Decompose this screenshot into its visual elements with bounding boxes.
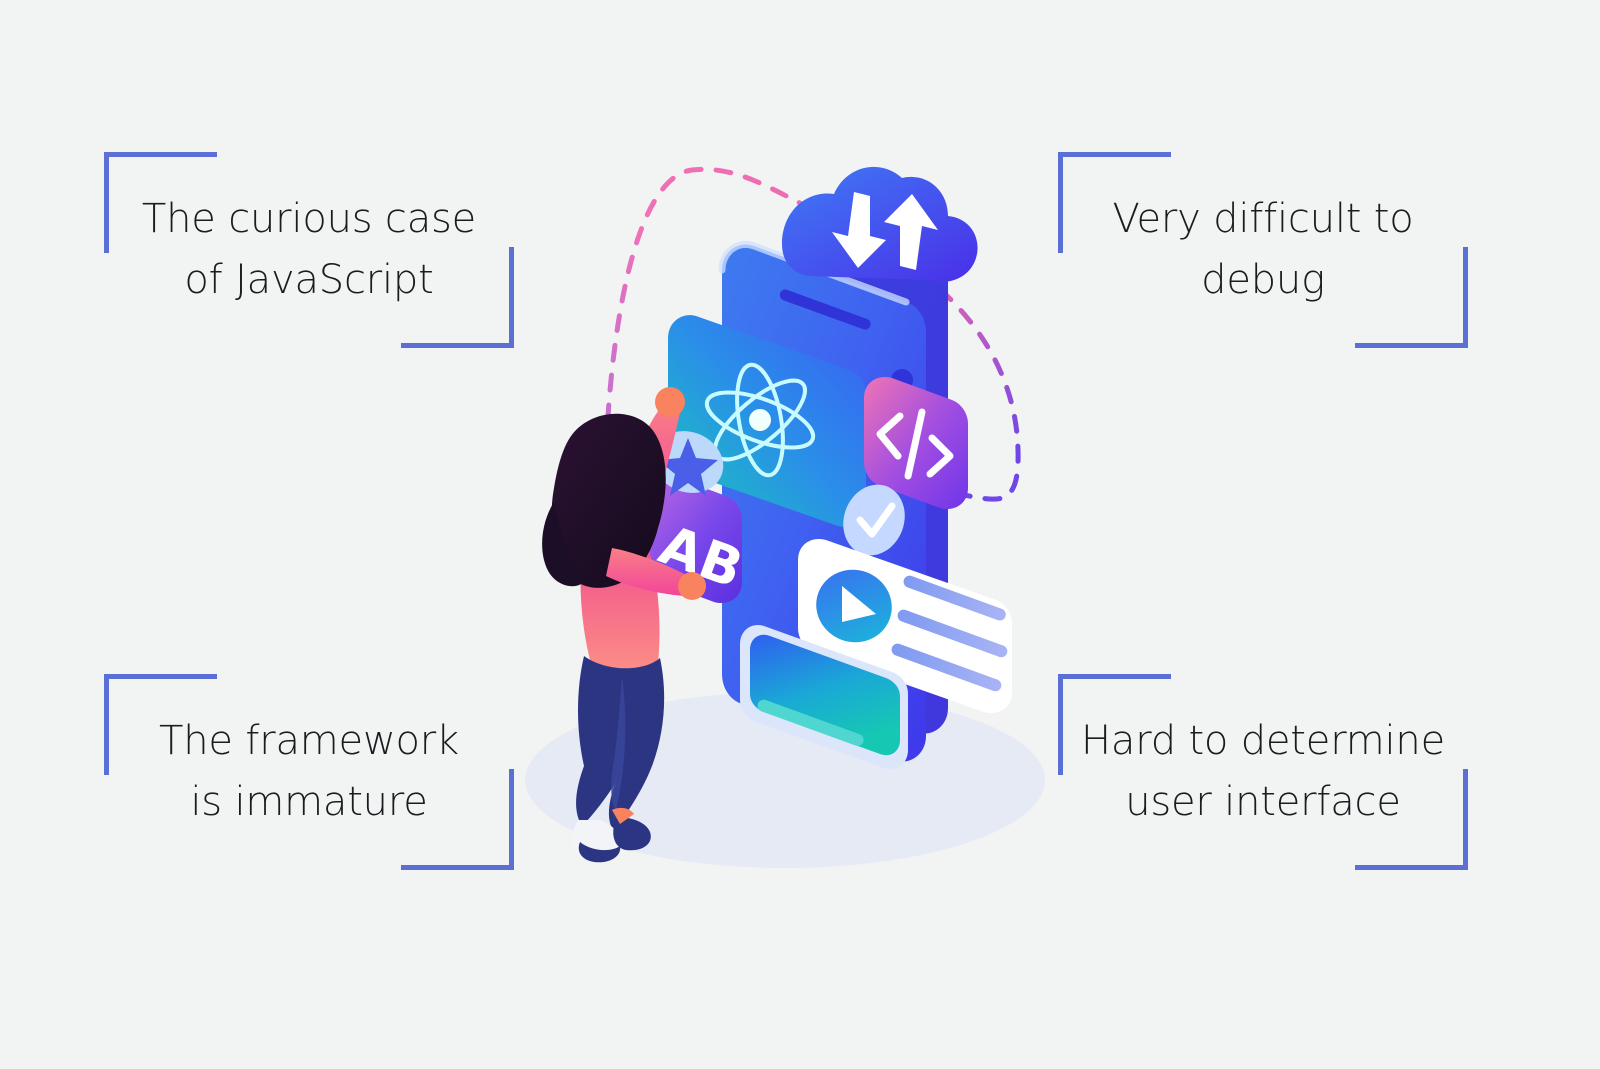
slide-canvas: AB [0, 0, 1600, 1069]
callout-label: The framework is immature [147, 711, 471, 833]
callout-label: Hard to determine user interface [1069, 711, 1457, 833]
callout-label: The curious case of JavaScript [130, 189, 488, 311]
callout-difficult-to-debug: Very difficult to debug [1058, 152, 1468, 348]
callout-hard-determine-ui: Hard to determine user interface [1058, 674, 1468, 870]
callout-curious-case-javascript: The curious case of JavaScript [104, 152, 514, 348]
person-hand-lower [678, 572, 706, 600]
cloud-sync-icon [782, 167, 978, 282]
person-hand-upper [655, 387, 685, 417]
callout-label: Very difficult to debug [1100, 189, 1425, 311]
illustration-mobile-development: AB [430, 120, 1130, 930]
callout-framework-immature: The framework is immature [104, 674, 514, 870]
